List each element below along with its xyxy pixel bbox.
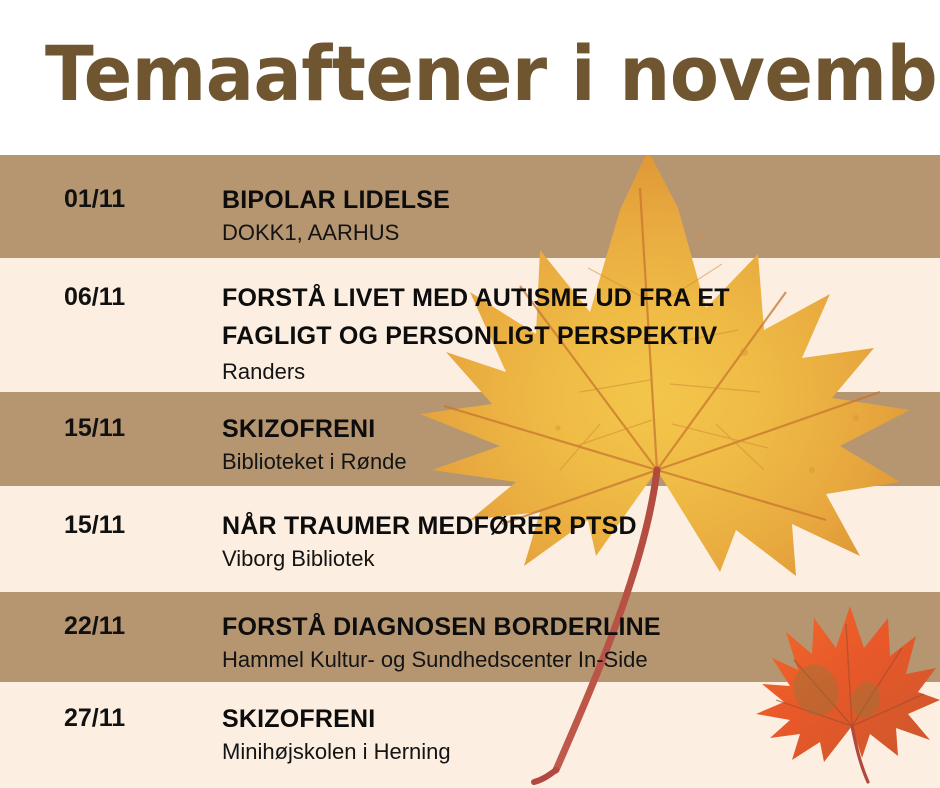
event-title: BIPOLAR LIDELSE bbox=[222, 183, 922, 217]
list-item[interactable]: 01/11 BIPOLAR LIDELSE DOKK1, AARHUS bbox=[0, 155, 940, 258]
event-title: FORSTÅ DIAGNOSEN BORDERLINE bbox=[222, 610, 922, 644]
event-venue: Viborg Bibliotek bbox=[222, 544, 922, 574]
list-item[interactable]: 15/11 NÅR TRAUMER MEDFØRER PTSD Viborg B… bbox=[0, 486, 940, 592]
event-venue: DOKK1, AARHUS bbox=[222, 218, 922, 248]
event-date: 22/11 bbox=[64, 612, 125, 641]
event-body: SKIZOFRENI Biblioteket i Rønde bbox=[222, 412, 922, 477]
page-title: Temaaftener i november bbox=[45, 26, 940, 122]
event-venue: Hammel Kultur- og Sundhedscenter In-Side bbox=[222, 645, 922, 675]
event-venue: Randers bbox=[222, 357, 922, 387]
event-body: BIPOLAR LIDELSE DOKK1, AARHUS bbox=[222, 183, 922, 248]
event-date: 15/11 bbox=[64, 511, 125, 540]
event-title: NÅR TRAUMER MEDFØRER PTSD bbox=[222, 509, 922, 543]
event-body: FORSTÅ DIAGNOSEN BORDERLINE Hammel Kultu… bbox=[222, 610, 922, 675]
event-title: SKIZOFRENI bbox=[222, 412, 922, 446]
list-item[interactable]: 06/11 FORSTÅ LIVET MED AUTISME UD FRA ET… bbox=[0, 258, 940, 392]
event-date: 01/11 bbox=[64, 185, 125, 214]
event-body: NÅR TRAUMER MEDFØRER PTSD Viborg Bibliot… bbox=[222, 509, 922, 574]
event-title: SKIZOFRENI bbox=[222, 702, 922, 736]
poster-canvas: 01/11 BIPOLAR LIDELSE DOKK1, AARHUS 06/1… bbox=[0, 0, 940, 788]
event-date: 06/11 bbox=[64, 283, 125, 312]
event-title: FORSTÅ LIVET MED AUTISME UD FRA ET bbox=[222, 281, 922, 315]
event-venue: Biblioteket i Rønde bbox=[222, 447, 922, 477]
event-body: FORSTÅ LIVET MED AUTISME UD FRA ET FAGLI… bbox=[222, 281, 922, 387]
event-body: SKIZOFRENI Minihøjskolen i Herning bbox=[222, 702, 922, 767]
event-date: 15/11 bbox=[64, 414, 125, 443]
list-item[interactable]: 22/11 FORSTÅ DIAGNOSEN BORDERLINE Hammel… bbox=[0, 592, 940, 682]
event-venue: Minihøjskolen i Herning bbox=[222, 737, 922, 767]
event-title-line2: FAGLIGT OG PERSONLIGT PERSPEKTIV bbox=[222, 319, 922, 353]
event-date: 27/11 bbox=[64, 704, 125, 733]
list-item[interactable]: 27/11 SKIZOFRENI Minihøjskolen i Herning bbox=[0, 682, 940, 788]
list-item[interactable]: 15/11 SKIZOFRENI Biblioteket i Rønde bbox=[0, 392, 940, 486]
title-banner: Temaaftener i november bbox=[0, 0, 940, 155]
